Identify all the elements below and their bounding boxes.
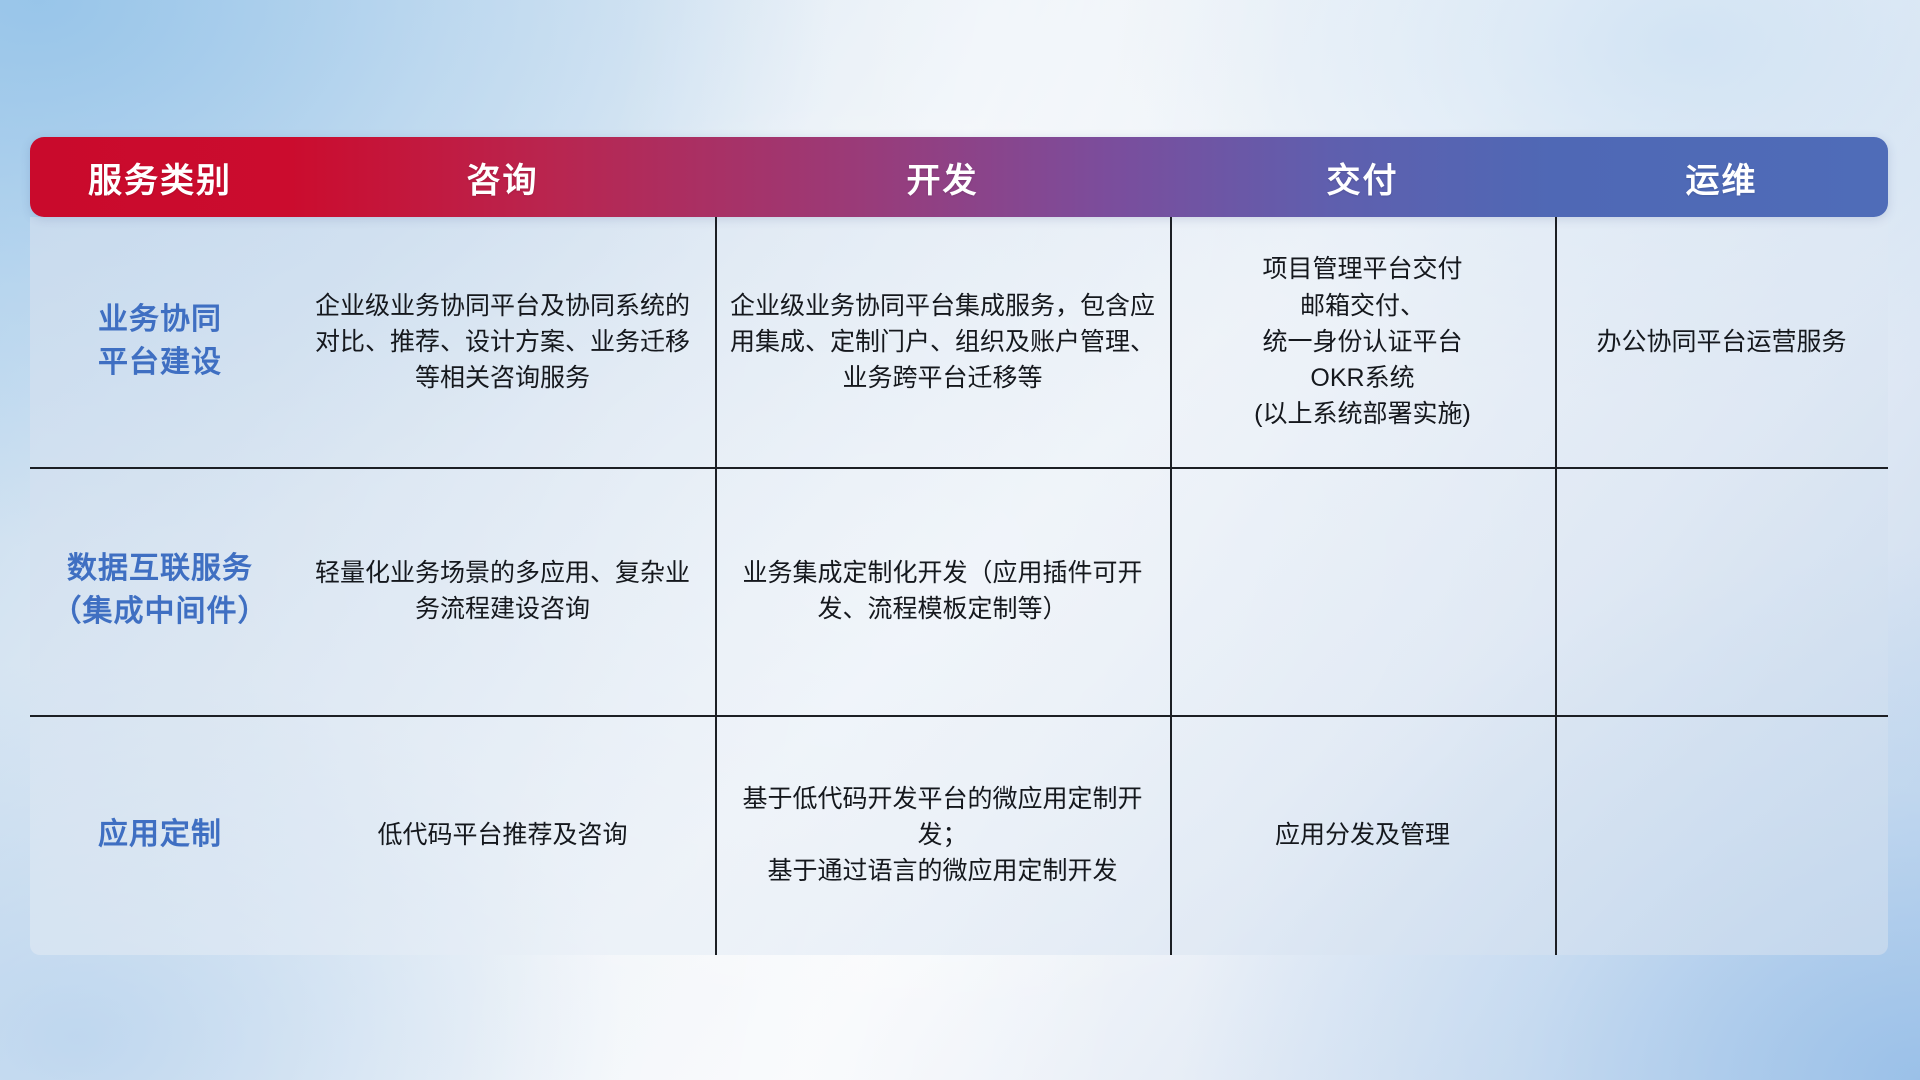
row-label-business-collaboration: 业务协同平台建设 — [30, 217, 290, 467]
cell-r2-development: 业务集成定制化开发（应用插件可开发、流程模板定制等） — [715, 467, 1170, 715]
divider-consulting-development — [715, 217, 717, 955]
cell-r3-development: 基于低代码开发平台的微应用定制开发；基于通过语言的微应用定制开发 — [715, 715, 1170, 955]
cell-r3-operations — [1555, 715, 1888, 955]
cell-r1-operations: 办公协同平台运营服务 — [1555, 217, 1888, 467]
service-matrix-table: 服务类别 咨询 开发 交付 运维 业务协同平台建设 企业级业务协同平台及协同系统… — [30, 137, 1888, 955]
cell-r2-operations — [1555, 467, 1888, 715]
cell-r1-development: 企业级业务协同平台集成服务，包含应用集成、定制门户、组织及账户管理、业务跨平台迁… — [715, 217, 1170, 467]
divider-row1-row2 — [30, 467, 1888, 469]
cell-r2-consulting: 轻量化业务场景的多应用、复杂业务流程建设咨询 — [290, 467, 715, 715]
row-label-data-interconnect: 数据互联服务（集成中间件） — [30, 467, 290, 715]
cell-r1-delivery: 项目管理平台交付邮箱交付、统一身份认证平台OKR系统(以上系统部署实施) — [1170, 217, 1555, 467]
cell-r3-delivery: 应用分发及管理 — [1170, 715, 1555, 955]
cell-r1-consulting: 企业级业务协同平台及协同系统的对比、推荐、设计方案、业务迁移等相关咨询服务 — [290, 217, 715, 467]
cell-r3-consulting: 低代码平台推荐及咨询 — [290, 715, 715, 955]
divider-delivery-operations — [1555, 217, 1557, 955]
table-header-band — [30, 137, 1888, 217]
divider-development-delivery — [1170, 217, 1172, 955]
cell-r2-delivery — [1170, 467, 1555, 715]
table-body-grid: 业务协同平台建设 企业级业务协同平台及协同系统的对比、推荐、设计方案、业务迁移等… — [30, 217, 1888, 955]
divider-row2-row3 — [30, 715, 1888, 717]
row-label-app-customization: 应用定制 — [30, 715, 290, 955]
